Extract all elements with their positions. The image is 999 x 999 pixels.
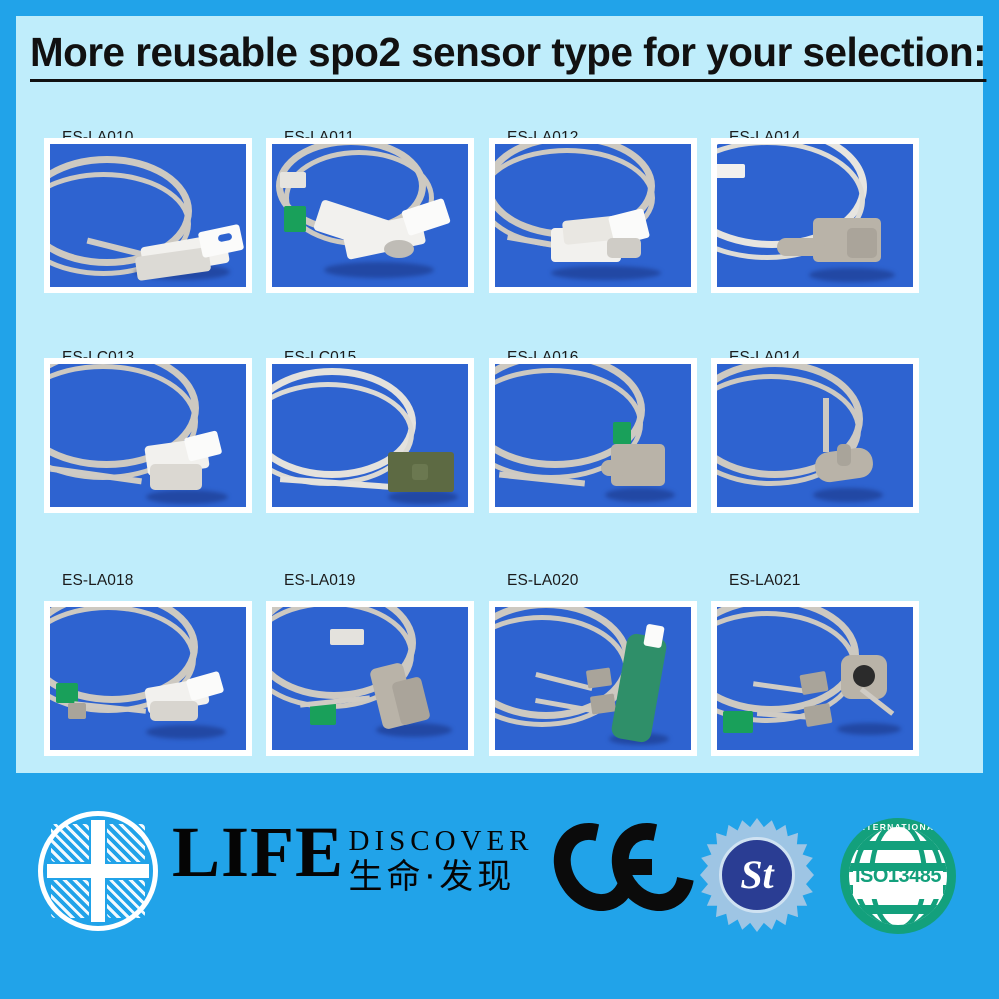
product-card-es-la020[interactable]: ES-LA020 Muti-Y type with disposable tap… [489,531,711,751]
sgs-badge-icon: St [700,818,814,932]
brand-secondary-block: DISCOVER 生命·发现 [349,817,534,897]
product-card-es-la010[interactable]: ES-LA010 AWT Adult finger clip [44,88,266,248]
product-card-es-la011[interactable]: ES-LA011 NK Adult finger clip [266,88,488,248]
emblem-quadrant [51,824,89,862]
product-photo [50,144,246,287]
product-photo [50,364,246,507]
brand-wordmark: LIFE DISCOVER 生命·发现 [172,817,534,897]
product-photo-frame [489,358,697,513]
emblem-quadrant [107,880,145,918]
product-photo-frame [711,601,919,756]
product-photo-frame [489,138,697,293]
emblem-cross-horizontal [47,864,149,878]
product-photo-frame [489,601,697,756]
ce-letter-e-bar [622,859,652,875]
product-photo-frame [266,601,474,756]
product-code: ES-LA020 [489,571,711,591]
product-card-es-la012[interactable]: ES-LA012 MR Adult finger clip [489,88,711,248]
sgs-monogram: St [722,840,792,910]
product-code: ES-LA018 [44,571,266,591]
content-panel: More reusable spo2 sensor type for your … [16,16,983,773]
iso-standard-label: ISO13485 [840,863,956,889]
product-card-es-la018[interactable]: ES-LA018 Child ear clip [44,531,266,691]
emblem-quadrant [51,880,89,918]
product-photo [272,607,468,750]
brand-name-life: LIFE [172,817,344,887]
product-card-es-la016[interactable]: ES-LA016 Neonate silicone [489,308,711,468]
product-grid: ES-LA010 AWT Adult finger clip [30,88,970,774]
brand-emblem-icon [38,811,158,931]
product-row: ES-LA010 AWT Adult finger clip [30,88,970,308]
product-card-es-la014-adult[interactable]: ES-LA014 Adult Silicone [711,88,933,248]
product-catalog-page: More reusable spo2 sensor type for your … [0,0,999,999]
product-photo-frame [44,358,252,513]
product-photo [272,144,468,287]
iso-arc-label: INTERNATIONAL [840,822,956,832]
product-photo [717,364,913,507]
product-row: ES-LC013 Child finger clip [30,308,970,531]
product-photo-frame [44,138,252,293]
brand-name-chinese: 生命·发现 [349,857,534,897]
emblem-quadrant [107,824,145,862]
product-photo [495,364,691,507]
page-title-wrap: More reusable spo2 sensor type for your … [30,28,970,82]
page-title: More reusable spo2 sensor type for your … [30,28,986,82]
brand-name-discover: DISCOVER [349,825,534,857]
product-code: ES-LA019 [266,571,488,591]
product-photo-frame [711,138,919,293]
iso-badge-icon: ISO13485 INTERNATIONAL [840,818,956,934]
product-card-es-lc015[interactable]: ES-LC015 Child silicone [266,308,488,468]
product-photo [495,144,691,287]
product-code: ES-LA021 [711,571,933,591]
product-photo-frame [266,358,474,513]
product-photo-frame [266,138,474,293]
product-photo [717,144,913,287]
product-photo-frame [711,358,919,513]
product-photo [717,607,913,750]
sgs-disc: St [719,837,795,913]
product-photo [272,364,468,507]
product-photo [50,607,246,750]
product-card-es-la014-neonate[interactable]: ES-LA014 Neonate silicone wrap [711,308,933,468]
product-photo-frame [44,601,252,756]
product-card-es-la021[interactable]: ES-LA021 Muti-Y type with silicone tape [711,531,933,751]
iso-globe: ISO13485 INTERNATIONAL [840,818,956,934]
product-card-es-lc013[interactable]: ES-LC013 Child finger clip [44,308,266,468]
ce-mark-icon [556,821,686,913]
product-card-es-la019[interactable]: ES-LA019 Adult ear clip [266,531,488,691]
product-photo [495,607,691,750]
product-row: ES-LA018 Child ear clip [30,531,970,774]
